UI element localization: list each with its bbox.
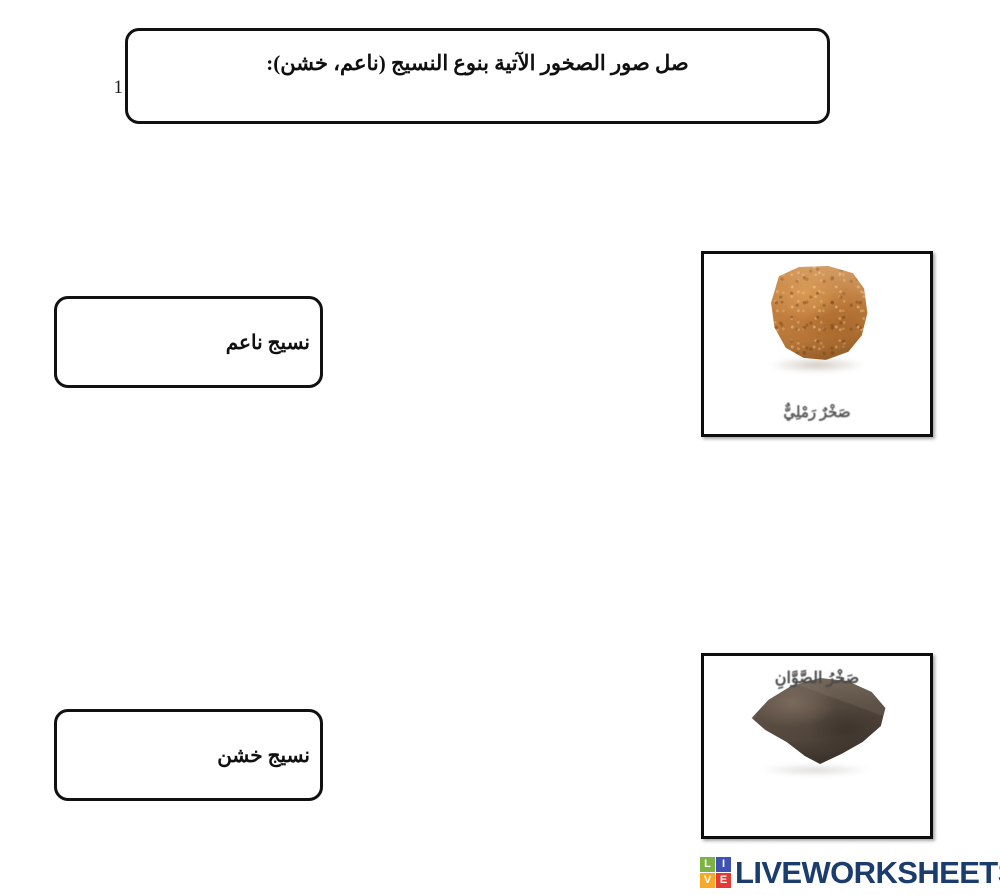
- term-label-coarse-texture: نسيج خشن: [57, 743, 320, 768]
- liveworksheets-logo-icon: L I V E: [700, 857, 731, 888]
- rock-caption-sandstone: صَخْرٌ رَمْلِيٌّ: [704, 403, 930, 422]
- picture-card-flint[interactable]: صَخْرُ الصَّوَّانِ: [701, 653, 933, 839]
- rock-caption-flint: صَخْرُ الصَّوَّانِ: [741, 668, 893, 768]
- card-inner-flint: صَخْرُ الصَّوَّانِ: [704, 656, 930, 836]
- term-label-fine-texture: نسيج ناعم: [57, 330, 320, 355]
- card-inner-sandstone: صَخْرٌ رَمْلِيٌّ: [704, 254, 930, 434]
- sandstone-rock-image: [761, 264, 873, 366]
- sandstone-shading: [761, 264, 873, 366]
- picture-card-sandstone[interactable]: صَخْرٌ رَمْلِيٌّ: [701, 251, 933, 437]
- rock-stage-sandstone: [704, 258, 930, 386]
- term-box-fine-texture[interactable]: نسيج ناعم: [54, 296, 323, 388]
- logo-tile-i: I: [716, 857, 731, 872]
- sandstone-shadow: [770, 357, 864, 373]
- term-box-coarse-texture[interactable]: نسيج خشن: [54, 709, 323, 801]
- logo-tile-l: L: [700, 857, 715, 872]
- matching-exercise: نسيج ناعم نسيج خشن صَخْرٌ رَمْلِيٌّ: [0, 0, 1000, 895]
- liveworksheets-wordmark: LIVEWORKSHEETS: [735, 857, 1000, 888]
- liveworksheets-watermark: L I V E LIVEWORKSHEETS: [700, 854, 1000, 890]
- logo-tile-v: V: [700, 873, 715, 888]
- logo-tile-e: E: [716, 873, 731, 888]
